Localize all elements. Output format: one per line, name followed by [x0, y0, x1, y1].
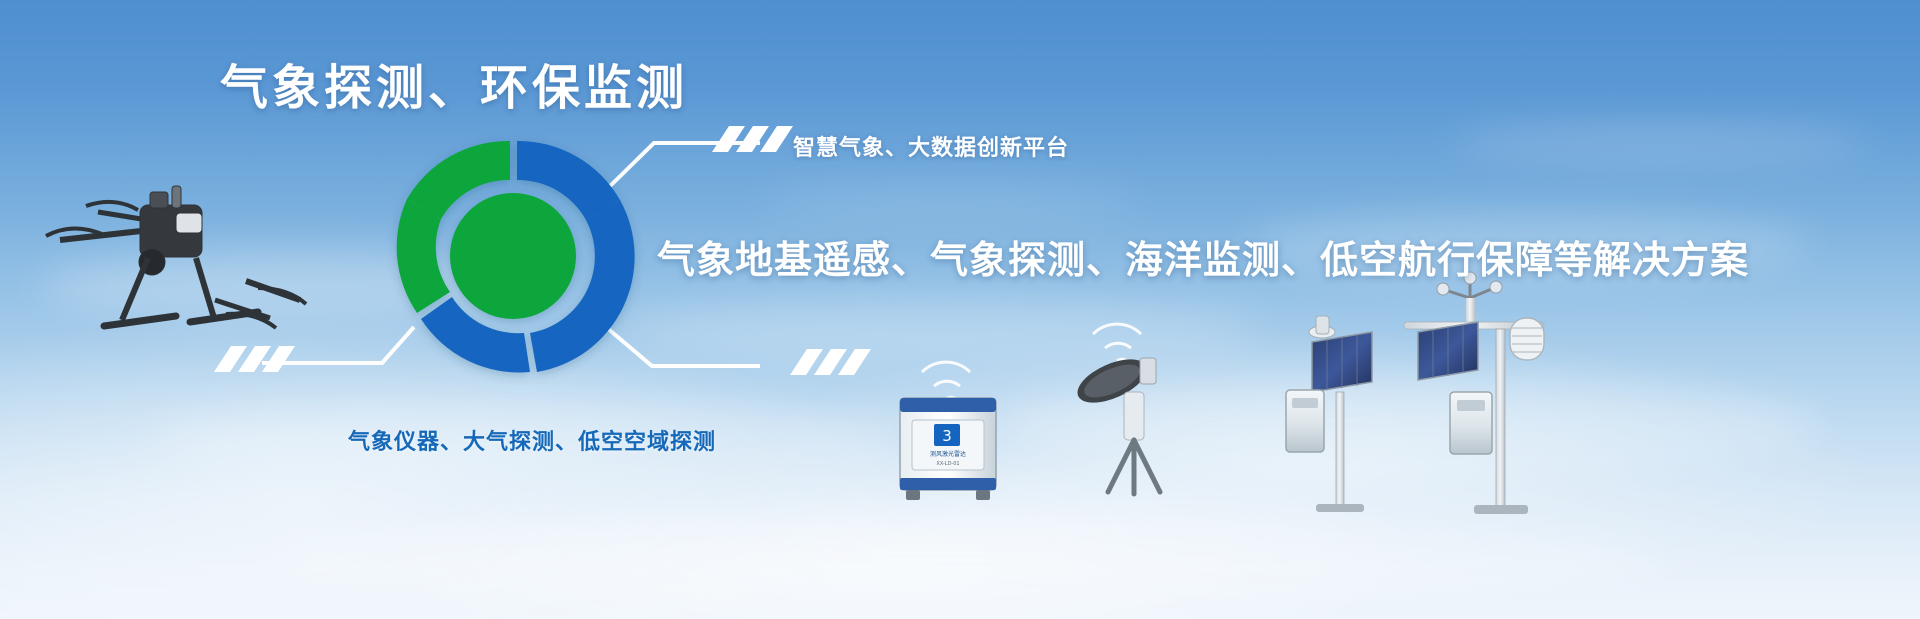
callout-smart-meteorology: 智慧气象、大数据创新平台 [793, 130, 1069, 162]
segmented-donut-graphic [397, 141, 635, 373]
cloud-wisp [760, 180, 1140, 220]
page-title: 气象探测、环保监测 [220, 48, 688, 118]
cloud-wisp [40, 250, 560, 320]
chevron-marks-bottom-right [790, 349, 871, 375]
cloud-wisp [260, 520, 1660, 600]
cloud-wisp [620, 300, 1260, 360]
callout-instruments: 气象仪器、大气探测、低空空域探测 [348, 424, 716, 456]
cloud-wisp [1450, 120, 1870, 166]
banner-root: 3 测风激光雷达 XX-LD-01 [0, 0, 1920, 619]
connector-line-bottom-left [262, 327, 414, 363]
cloud-wisp [1000, 380, 1820, 470]
radiation-shield [1510, 318, 1544, 360]
connector-line-top [606, 143, 760, 190]
signal-wave-icon [922, 362, 970, 399]
parabolic-radar-dish [1071, 350, 1160, 494]
svg-text:测风激光雷达: 测风激光雷达 [930, 450, 966, 458]
solar-powered-sensor-post [1286, 316, 1372, 512]
connector-line-bottom-right [606, 327, 760, 366]
mobile-monitoring-station: 3 测风激光雷达 XX-LD-01 [900, 398, 996, 500]
svg-text:XX-LD-01: XX-LD-01 [936, 461, 959, 467]
svg-text:3: 3 [942, 427, 952, 445]
automatic-weather-station [1404, 272, 1544, 514]
solutions-headline: 气象地基遥感、气象探测、海洋监测、低空航行保障等解决方案 [657, 229, 1749, 284]
chevron-marks-bottom-left [214, 346, 295, 372]
signal-wave-icon [1093, 324, 1141, 361]
chevron-marks-top [712, 126, 793, 152]
